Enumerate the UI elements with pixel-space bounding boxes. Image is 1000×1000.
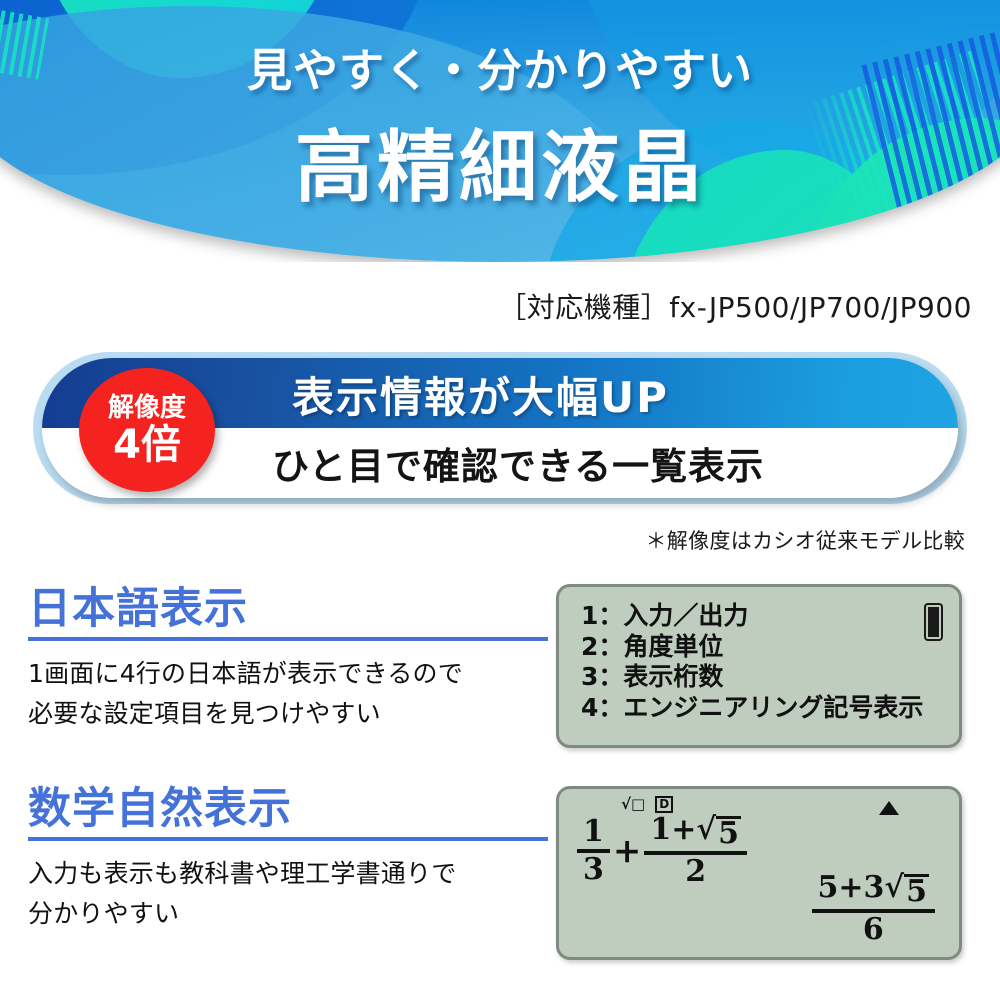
- fraction-numerator: 1+√5: [644, 815, 747, 851]
- feature-description-line1: 1画面に4行の日本語が表示できるので: [28, 659, 463, 688]
- lcd-menu-item: 4：エンジニアリング記号表示: [581, 693, 923, 724]
- radicand: 5: [904, 874, 929, 907]
- radical-sign-icon: √: [884, 873, 904, 903]
- hero-subtitle: 見やすく・分かりやすい: [0, 34, 1000, 99]
- feature-description: 1画面に4行の日本語が表示できるので 必要な設定項目を見つけやすい: [28, 654, 546, 733]
- supported-models-text: ［対応機種］fx-JP500/JP700/JP900: [0, 286, 972, 326]
- lcd-expression: 1 3 + 1+√5 2: [577, 815, 747, 887]
- fraction-numerator: 5+3√5: [812, 873, 935, 909]
- feature-description-line1: 入力も表示も教科書や理工学書通りで: [28, 859, 456, 888]
- feature-divider: [28, 837, 548, 841]
- result-fraction: 5+3√5 6: [812, 873, 935, 945]
- feature-divider: [28, 637, 548, 641]
- fraction-one-third: 1 3: [577, 817, 610, 885]
- hero-title-group: 見やすく・分かりやすい 高精細液晶: [0, 0, 1000, 217]
- scrollbar-indicator-icon: [926, 605, 941, 639]
- square-root-expression: √5: [696, 815, 741, 849]
- fraction-denominator: 6: [857, 913, 890, 945]
- page-root: 見やすく・分かりやすい 高精細液晶 ［対応機種］fx-JP500/JP700/J…: [0, 0, 1000, 1000]
- fraction-numerator: 1: [577, 817, 610, 849]
- radical-sign-icon: √: [696, 815, 716, 845]
- hero-title: 高精細液晶: [0, 105, 1000, 217]
- lcd-menu-item: 1：入力／出力: [581, 601, 923, 632]
- fraction-denominator: 3: [577, 853, 610, 885]
- lcd-screen-menu: 1：入力／出力 2：角度単位 3：表示桁数 4：エンジニアリング記号表示: [556, 584, 962, 748]
- badge-label: 解像度: [108, 395, 186, 421]
- feature-description-line2: 必要な設定項目を見つけやすい: [28, 699, 381, 728]
- fraction-golden: 1+√5 2: [644, 815, 747, 887]
- result-coefficient: 3: [864, 870, 885, 905]
- feature-description-line2: 分かりやすい: [28, 899, 179, 928]
- resolution-badge: 解像度 4倍: [79, 368, 215, 492]
- square-root-expression: √5: [884, 873, 929, 907]
- feature-section-japanese-display: 日本語表示 1画面に4行の日本語が表示できるので 必要な設定項目を見つけやすい: [28, 586, 546, 733]
- result-five: 5: [818, 870, 839, 905]
- numerator-plus: +: [671, 812, 696, 847]
- highlight-banner: 表示情報が大幅UP ひと目で確認できる一覧表示 解像度 4倍: [33, 352, 967, 504]
- radicand: 5: [716, 816, 741, 849]
- scroll-up-arrow-icon: [879, 801, 899, 815]
- badge-value: 4倍: [113, 425, 181, 465]
- lcd-menu-item: 3：表示桁数: [581, 662, 923, 693]
- footnote-text: ＊解像度はカシオ従来モデル比較: [0, 525, 965, 555]
- sqrt-mode-icon: √□: [621, 795, 645, 813]
- feature-description: 入力も表示も教科書や理工学書通りで 分かりやすい: [28, 854, 546, 933]
- banner-headline: 表示情報が大幅UP: [292, 364, 892, 425]
- feature-title: 数学自然表示: [28, 786, 546, 832]
- feature-section-natural-math: 数学自然表示 入力も表示も教科書や理工学書通りで 分かりやすい: [28, 786, 546, 933]
- fraction-denominator: 2: [679, 855, 712, 887]
- lcd-menu-item: 2：角度単位: [581, 632, 923, 663]
- banner-subheadline: ひと目で確認できる一覧表示: [272, 436, 912, 490]
- lcd-result: 5+3√5 6: [812, 873, 935, 945]
- numerator-one: 1: [650, 812, 671, 847]
- lcd-screen-math: √□ D 1 3 + 1+√5 2 5+3√5: [556, 786, 962, 960]
- degree-mode-icon: D: [655, 796, 673, 813]
- plus-operator: +: [610, 831, 645, 871]
- lcd-status-indicators: √□ D: [621, 795, 673, 813]
- result-plus: +: [838, 870, 863, 905]
- feature-title: 日本語表示: [28, 586, 546, 632]
- lcd-menu-list: 1：入力／出力 2：角度単位 3：表示桁数 4：エンジニアリング記号表示: [581, 601, 923, 723]
- hero-banner: 見やすく・分かりやすい 高精細液晶: [0, 0, 1000, 262]
